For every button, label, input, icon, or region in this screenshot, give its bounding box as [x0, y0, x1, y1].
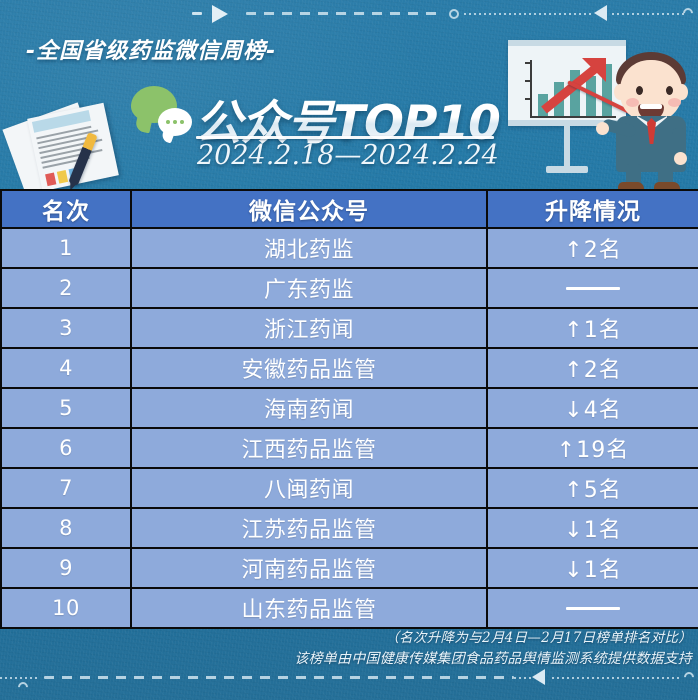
cell-rank: 5 — [1, 388, 131, 428]
cell-rank: 3 — [1, 308, 131, 348]
title-underline — [196, 136, 494, 139]
cell-rank: 10 — [1, 588, 131, 628]
dotted-segment — [464, 13, 594, 15]
cell-rank: 1 — [1, 228, 131, 268]
left-triangle-icon — [532, 669, 545, 685]
column-header-change: 升降情况 — [487, 190, 698, 228]
speech-bubble-small — [158, 108, 192, 136]
table-row: 7八闽药闻↑5名 — [1, 468, 698, 508]
dashed-segment — [246, 12, 442, 15]
cell-rank-change: ↑5名 — [487, 468, 698, 508]
play-triangle-icon — [212, 5, 228, 23]
table-row: 3浙江药闻↑1名 — [1, 308, 698, 348]
cell-account-name: 广东药监 — [131, 268, 487, 308]
footer-note: （名次升降为与2月4日—2月17日榜单排名对比） — [0, 628, 692, 648]
chart-x-axis — [530, 116, 616, 118]
presenter-ear — [676, 84, 688, 100]
poster-canvas: -全国省级药监微信周榜- 公众号TOP10 2024.2.18—2024.2.2… — [0, 0, 698, 700]
cell-rank: 4 — [1, 348, 131, 388]
ring-icon — [449, 9, 459, 19]
cell-account-name: 八闽药闻 — [131, 468, 487, 508]
speech-bubble-icon — [131, 86, 195, 144]
table-header-row: 名次 微信公众号 升降情况 — [1, 190, 698, 228]
ranking-table: 名次 微信公众号 升降情况 1湖北药监↑2名2广东药监3浙江药闻↑1名4安徽药品… — [0, 189, 698, 629]
ring-icon — [16, 680, 30, 694]
table-row: 8江苏药品监管↓1名 — [1, 508, 698, 548]
cell-rank-change: ↑19名 — [487, 428, 698, 468]
cell-rank-change: ↓1名 — [487, 548, 698, 588]
cell-rank-change — [487, 588, 698, 628]
presenter-hand-left — [596, 122, 609, 135]
presenter-cheek — [626, 98, 639, 107]
cell-account-name: 江西药品监管 — [131, 428, 487, 468]
cell-account-name: 湖北药监 — [131, 228, 487, 268]
table-row: 1湖北药监↑2名 — [1, 228, 698, 268]
cell-rank-change: ↑2名 — [487, 228, 698, 268]
table-row: 4安徽药品监管↑2名 — [1, 348, 698, 388]
presenter-hand-right — [674, 152, 687, 165]
dashed-segment — [44, 676, 514, 679]
dash-nub — [192, 12, 202, 15]
cell-rank: 2 — [1, 268, 131, 308]
board-base — [546, 166, 588, 173]
cell-account-name: 浙江药闻 — [131, 308, 487, 348]
board-pole — [564, 126, 570, 168]
chart-y-axis — [530, 60, 532, 118]
cell-account-name: 山东药品监管 — [131, 588, 487, 628]
table-row: 10山东药品监管 — [1, 588, 698, 628]
poster-subtitle: -全国省级药监微信周榜- — [26, 33, 276, 65]
ring-icon — [682, 670, 696, 684]
cell-rank-change: ↓4名 — [487, 388, 698, 428]
top-decoration-line — [0, 2, 698, 24]
cell-rank-change: ↑1名 — [487, 308, 698, 348]
dotted-segment — [552, 677, 682, 679]
ring-icon — [681, 6, 695, 20]
dotted-segment — [612, 13, 684, 15]
presenter-ear — [614, 84, 626, 100]
cell-account-name: 江苏药品监管 — [131, 508, 487, 548]
left-triangle-icon — [594, 5, 607, 21]
dotted-segment — [514, 677, 532, 679]
table-row: 6江西药品监管↑19名 — [1, 428, 698, 468]
footer-source: 该榜单由中国健康传媒集团食品药品舆情监测系统提供数据支持 — [0, 648, 692, 670]
flat-dash-icon — [566, 287, 620, 290]
presenter-eye — [666, 86, 673, 95]
cell-rank-change — [487, 268, 698, 308]
table-row: 9河南药品监管↓1名 — [1, 548, 698, 588]
flat-dash-icon — [566, 607, 620, 610]
cell-rank: 6 — [1, 428, 131, 468]
cell-account-name: 河南药品监管 — [131, 548, 487, 588]
cell-rank-change: ↑2名 — [487, 348, 698, 388]
presenter-cheek — [668, 98, 681, 107]
table-row: 2广东药监 — [1, 268, 698, 308]
cell-rank: 8 — [1, 508, 131, 548]
cell-rank-change: ↓1名 — [487, 508, 698, 548]
presenter-chart-icon — [498, 34, 698, 190]
dotted-segment — [0, 677, 40, 679]
table-row: 5海南药闻↓4名 — [1, 388, 698, 428]
column-header-rank: 名次 — [1, 190, 131, 228]
cell-account-name: 安徽药品监管 — [131, 348, 487, 388]
contract-document-icon — [6, 104, 134, 190]
cell-account-name: 海南药闻 — [131, 388, 487, 428]
date-range-label: 2024.2.18—2024.2.24 — [197, 140, 497, 171]
presenter-eye — [636, 86, 643, 95]
cell-rank: 7 — [1, 468, 131, 508]
footer: （名次升降为与2月4日—2月17日榜单排名对比） 该榜单由中国健康传媒集团食品药… — [0, 628, 698, 670]
column-header-account: 微信公众号 — [131, 190, 487, 228]
cell-rank: 9 — [1, 548, 131, 588]
